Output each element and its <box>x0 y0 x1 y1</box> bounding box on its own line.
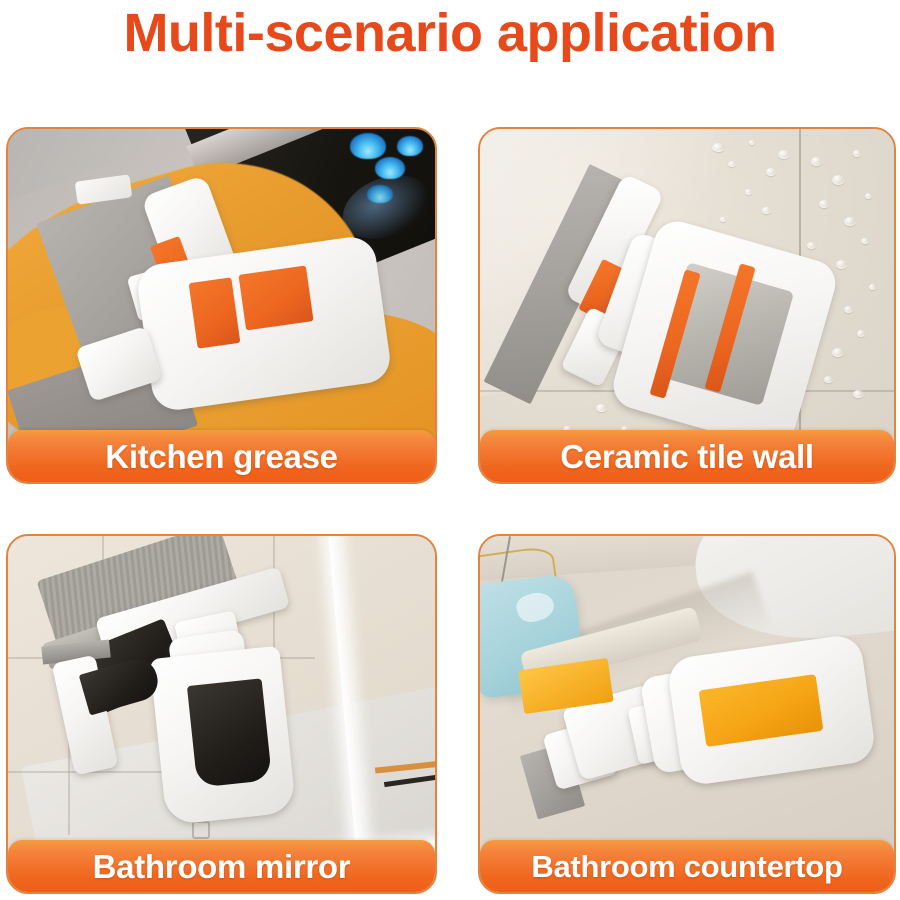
scenario-card-bathroom-countertop[interactable]: Bathroom countertop <box>478 534 896 894</box>
water-droplet <box>853 150 861 157</box>
water-droplet <box>749 140 755 145</box>
water-droplet <box>853 390 864 398</box>
flame-icon <box>397 136 423 156</box>
scraper-product <box>42 550 384 849</box>
caption-banner: Ceramic tile wall <box>480 430 894 484</box>
scraper-product <box>521 629 869 850</box>
caption-banner: Bathroom mirror <box>8 840 435 894</box>
caption-banner: Kitchen grease <box>8 430 435 484</box>
flame-icon <box>375 157 405 179</box>
flame-icon <box>350 133 386 159</box>
water-droplet <box>865 193 872 199</box>
water-droplet <box>844 306 853 313</box>
page-title: Multi-scenario application <box>0 2 900 64</box>
blade-slot <box>189 277 241 348</box>
scene-bathroom-countertop <box>480 536 894 892</box>
caption-label: Bathroom countertop <box>531 849 842 885</box>
water-droplet <box>857 330 865 337</box>
water-droplet <box>712 143 725 152</box>
handle-cutout <box>187 678 272 787</box>
scenario-card-bathroom-mirror[interactable]: Bathroom mirror <box>6 534 437 894</box>
scenario-card-ceramic-tile-wall[interactable]: Ceramic tile wall <box>478 127 896 484</box>
scraper-product <box>76 178 383 432</box>
caption-label: Ceramic tile wall <box>560 438 814 476</box>
scene-bathroom-mirror <box>8 536 435 892</box>
caption-label: Bathroom mirror <box>93 848 351 886</box>
product-feature-image: Multi-scenario application <box>0 0 900 900</box>
caption-label: Kitchen grease <box>105 438 337 476</box>
caption-banner: Bathroom countertop <box>480 840 894 894</box>
scraper-product <box>521 157 844 468</box>
blade-slot <box>239 265 314 330</box>
scenario-card-kitchen-grease[interactable]: Kitchen grease <box>6 127 437 484</box>
